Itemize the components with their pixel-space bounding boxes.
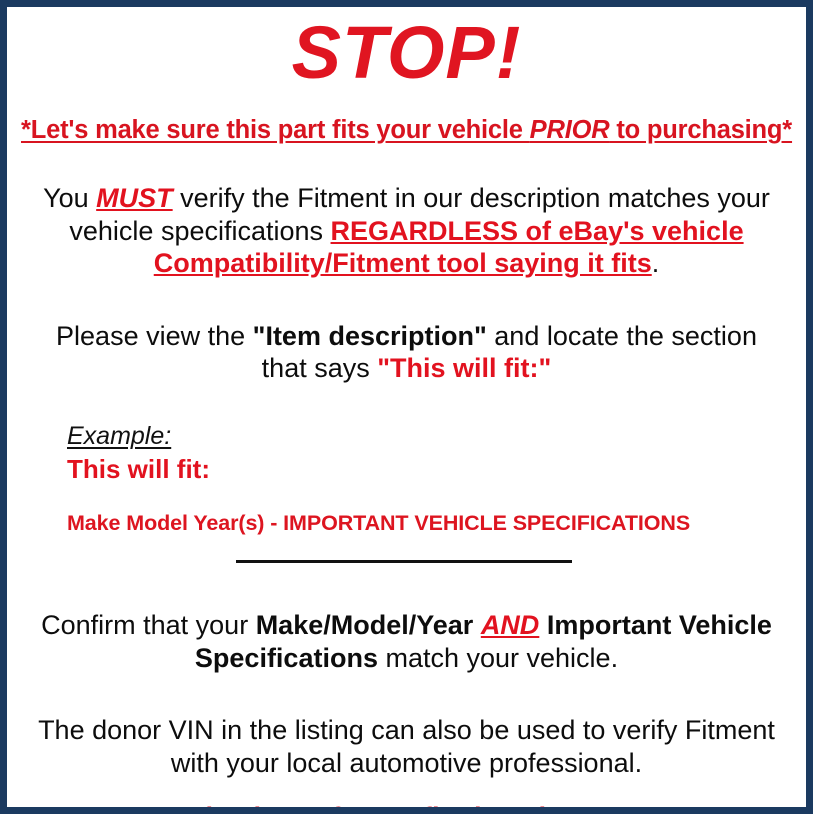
make-model-year-emphasis: Make/Model/Year <box>256 610 474 640</box>
section-divider <box>236 560 572 563</box>
this-will-fit-emphasis: "This will fit:" <box>377 353 551 383</box>
example-spec-line: Make Model Year(s) - IMPORTANT VEHICLE S… <box>67 511 792 536</box>
tagline-text-before: *Let's make sure this part fits your veh… <box>21 116 530 144</box>
example-label: Example: <box>67 422 171 451</box>
and-emphasis: AND <box>481 610 540 640</box>
please-view-paragraph: Please view the "Item description" and l… <box>21 320 792 385</box>
tagline-emphasis-prior: PRIOR <box>530 116 610 144</box>
example-label-row: Example: <box>67 422 792 451</box>
tagline: *Let's make sure this part fits your veh… <box>21 116 792 145</box>
must-verify-paragraph: You MUST verify the Fitment in our descr… <box>21 182 792 279</box>
confirm-text-3 <box>539 610 547 640</box>
confirm-text-2 <box>473 610 481 640</box>
confirm-paragraph: Confirm that your Make/Model/Year AND Im… <box>21 609 792 674</box>
confirm-text-4: match your vehicle. <box>378 643 618 673</box>
divider-wrap <box>21 560 792 570</box>
please-text-1: Please view the <box>56 321 253 351</box>
confirm-text-1: Confirm that your <box>41 610 256 640</box>
must-text-3: . <box>652 248 660 278</box>
item-description-emphasis: "Item description" <box>253 321 487 351</box>
donor-vin-paragraph: The donor VIN in the listing can also be… <box>21 714 792 779</box>
tagline-text-after: to purchasing* <box>609 116 792 144</box>
example-block: Example: This will fit: Make Model Year(… <box>21 422 792 536</box>
notice-content: STOP! *Let's make sure this part fits yo… <box>7 7 806 807</box>
fitment-notice-card: STOP! *Let's make sure this part fits yo… <box>0 0 813 814</box>
must-emphasis: MUST <box>96 183 173 213</box>
page-title: STOP! <box>21 7 792 90</box>
thank-you-line: Thank you for confirming Fitment! <box>21 802 792 814</box>
must-text-1: You <box>43 183 96 213</box>
example-fit-line: This will fit: <box>67 454 792 485</box>
